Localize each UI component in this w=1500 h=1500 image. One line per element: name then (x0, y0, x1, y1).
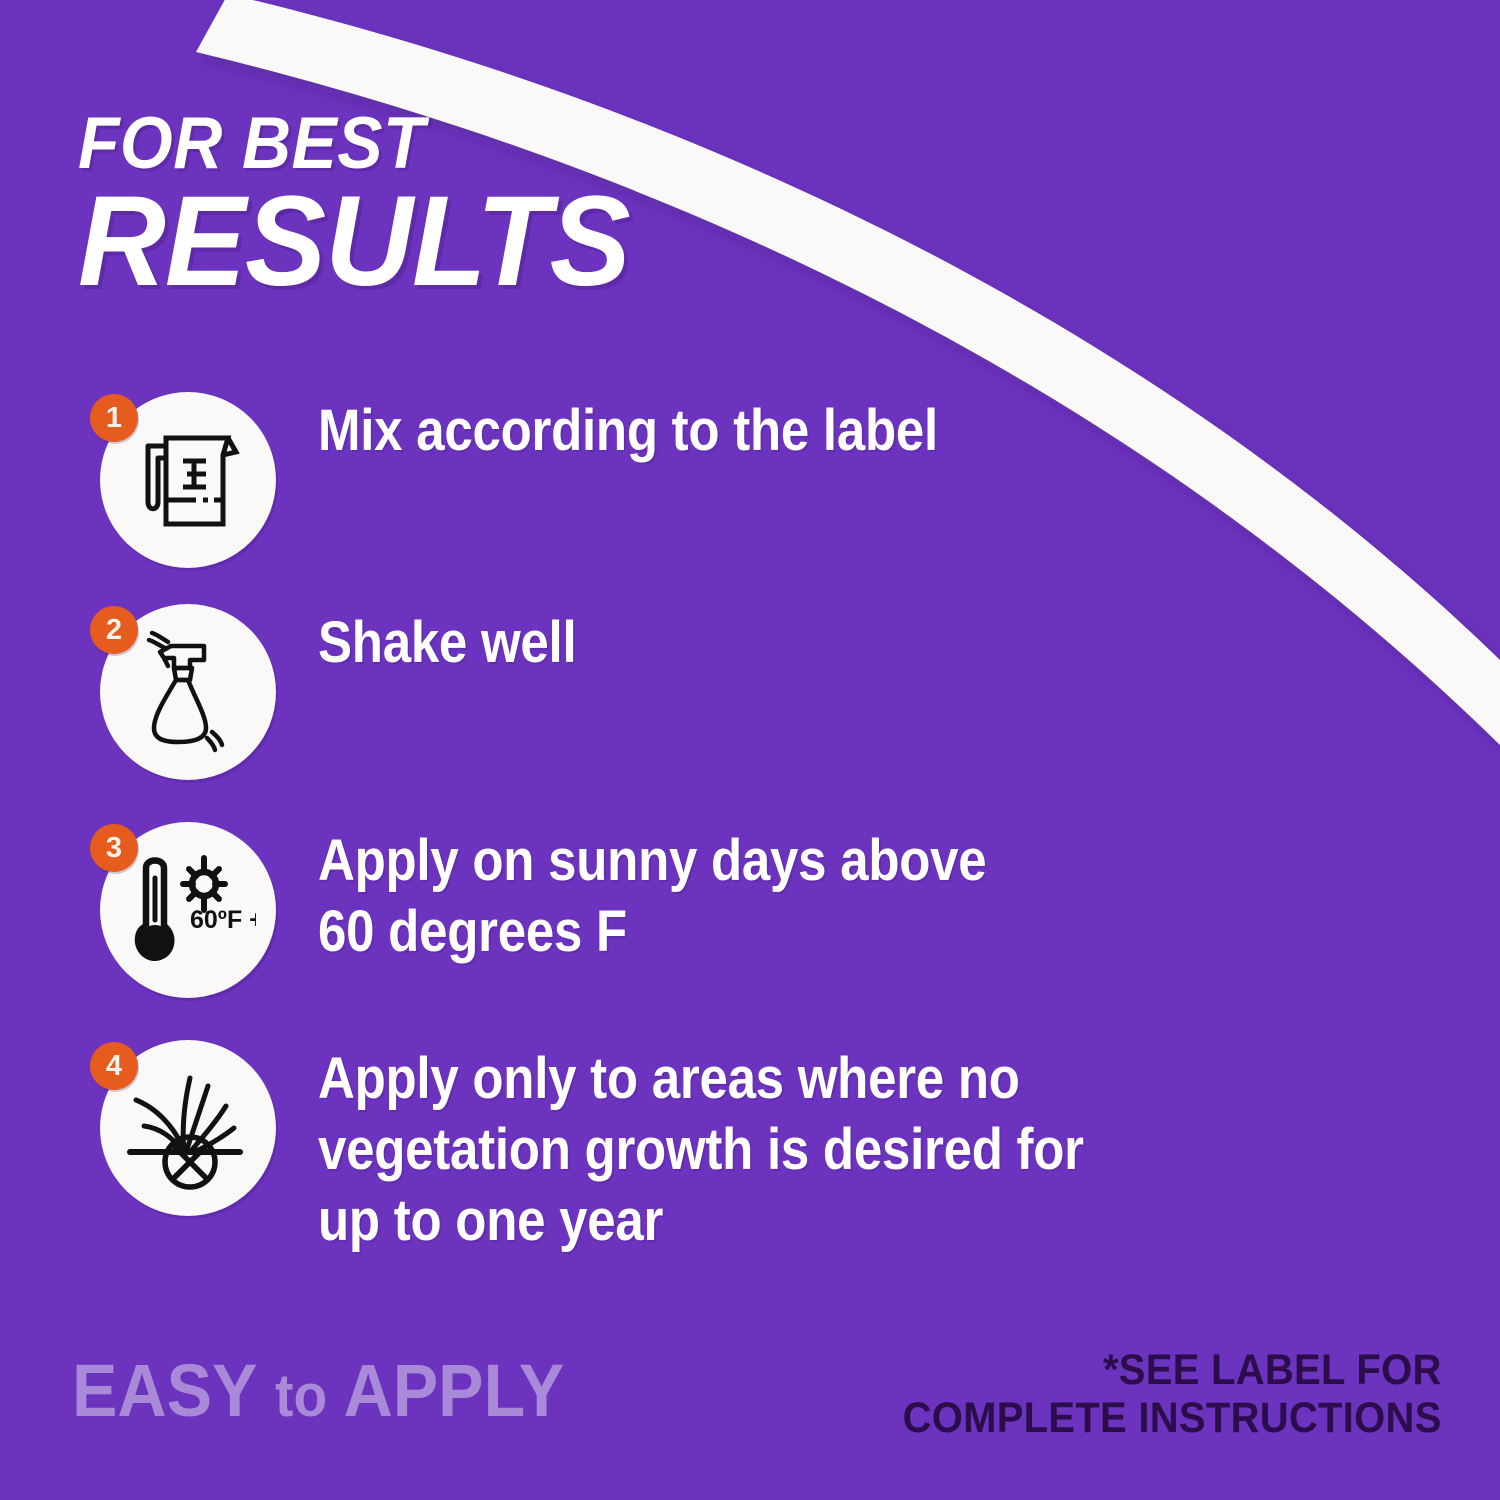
step-1-icon-wrap: 1 (100, 392, 296, 568)
easy-to-apply-tagline: EASY to APPLY (72, 1354, 564, 1428)
step-1-label: Mix according to the label (318, 396, 938, 467)
temperature-label: 60ºF + (190, 906, 256, 934)
step-2-label: Shake well (318, 608, 576, 679)
tagline-apply: APPLY (344, 1349, 565, 1432)
headline-line-2: RESULTS (78, 183, 630, 301)
spray-bottle-shake-icon (124, 628, 252, 756)
thermometer-bulb (139, 925, 171, 957)
list-item-step-4: 4 (0, 1040, 1188, 1256)
step-4-label: Apply only to areas where no vegetation … (318, 1044, 1084, 1256)
list-item-step-3: 3 (0, 822, 1078, 998)
list-item-step-1: 1 (0, 392, 1022, 568)
step-3-number-badge: 3 (90, 824, 138, 872)
for-best-results-infographic: { "theme": { "background_purple": "#6B33… (0, 0, 1500, 1500)
list-item-step-2: 2 (0, 604, 612, 780)
page-title: FOR BEST RESULTS (78, 110, 659, 301)
tagline-to: to (275, 1362, 327, 1429)
see-label-footnote: *SEE LABEL FOR COMPLETE INSTRUCTIONS (903, 1346, 1442, 1442)
step-2-number-badge: 2 (90, 606, 138, 654)
thermometer-sun-icon: 60ºF + (120, 844, 256, 976)
step-3-icon-wrap: 3 (100, 822, 296, 998)
no-vegetation-grass-icon (122, 1064, 254, 1192)
tagline-easy: EASY (72, 1349, 256, 1432)
step-4-number-badge: 4 (90, 1042, 138, 1090)
headline-line-1: FOR BEST (78, 110, 618, 177)
step-2-icon-wrap: 2 (100, 604, 296, 780)
measuring-pitcher-icon (124, 416, 252, 544)
step-3-label: Apply on sunny days above 60 degrees F (318, 826, 986, 968)
step-1-number-badge: 1 (90, 394, 138, 442)
step-4-icon-wrap: 4 (100, 1040, 296, 1216)
